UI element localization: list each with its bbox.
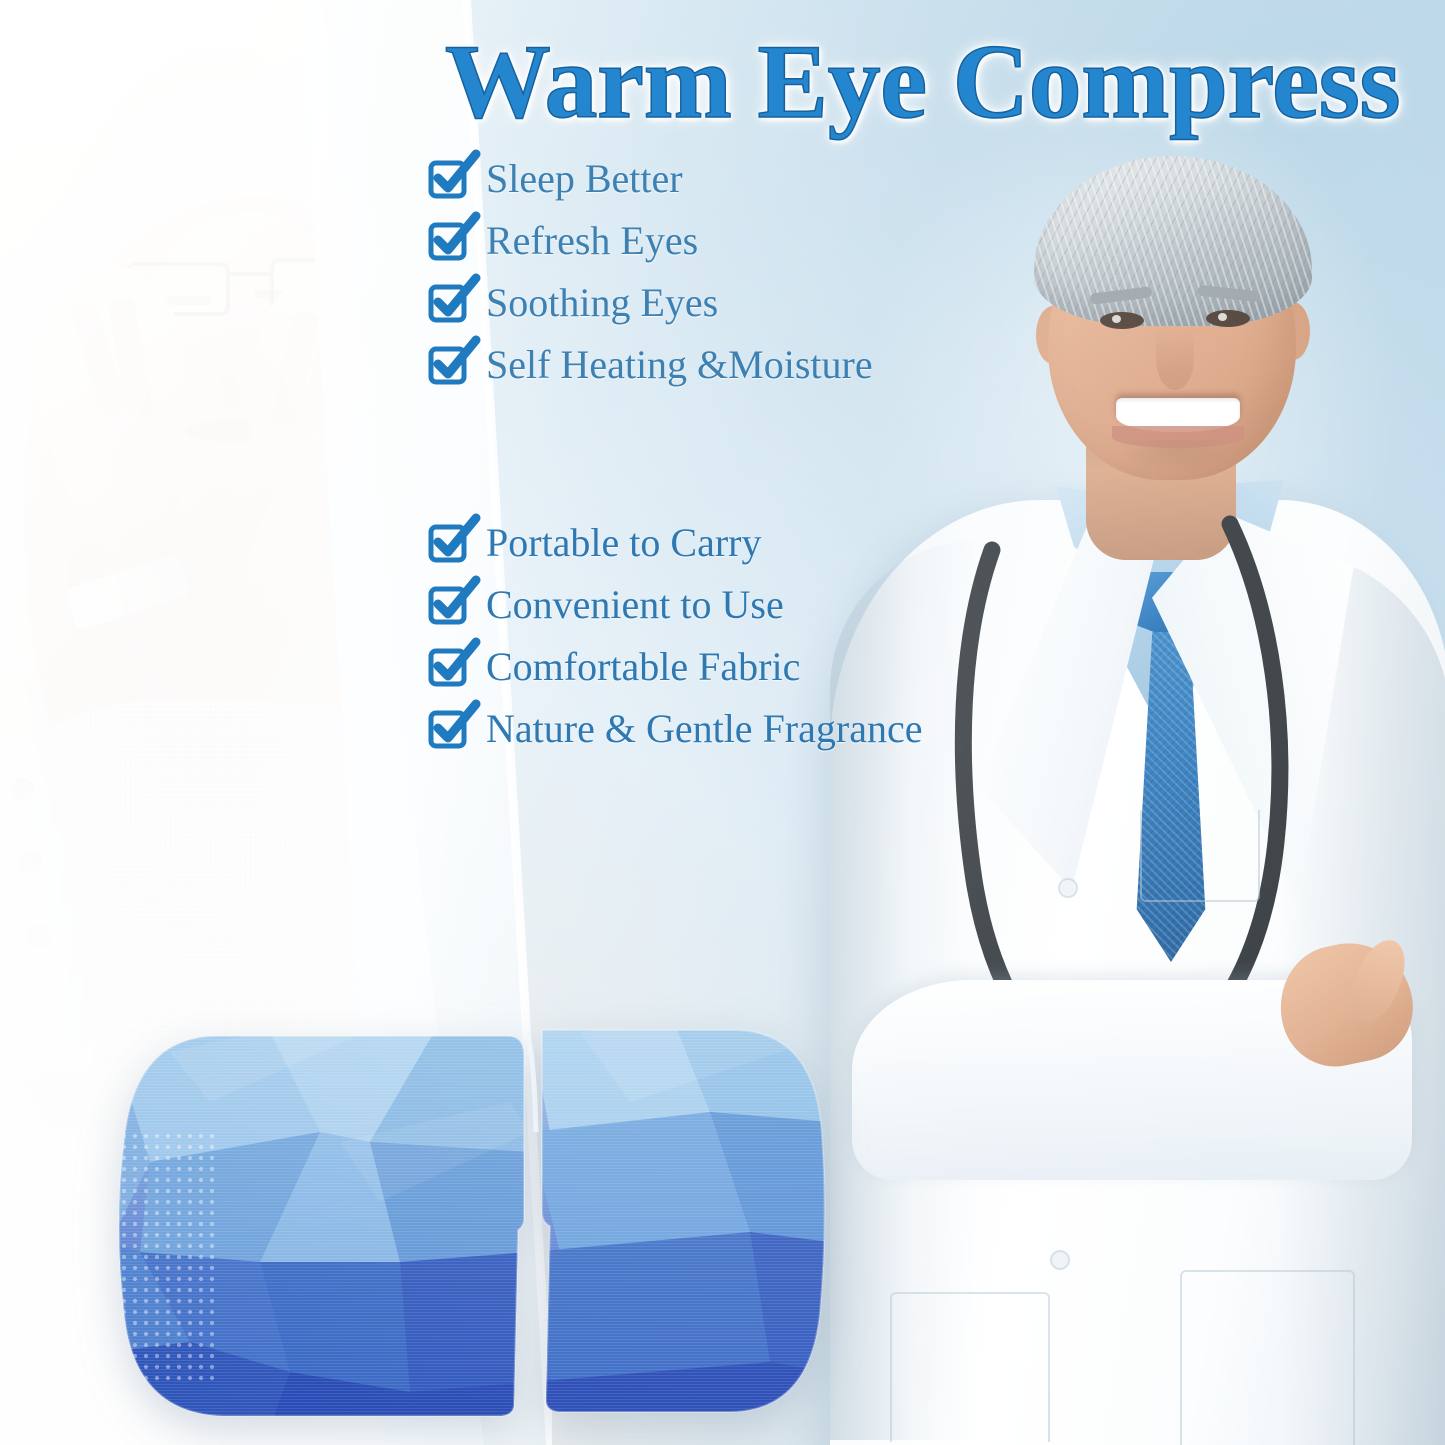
feature-item: Comfortable Fabric [432,636,1072,698]
feature-item: Refresh Eyes [432,210,1072,272]
checkbox-checked-icon [432,711,468,747]
feature-group-benefits: Sleep Better Refresh Eyes [432,148,1072,396]
feature-label: Comfortable Fabric [486,647,800,687]
checkbox-checked-icon [432,223,468,259]
checkbox-checked-icon [432,161,468,197]
feature-item: Nature & Gentle Fragrance [432,698,1072,760]
checkbox-checked-icon [432,649,468,685]
feature-item: Portable to Carry [432,512,1072,574]
checkbox-checked-icon [432,347,468,383]
feature-label: Convenient to Use [486,585,784,625]
feature-item: Soothing Eyes [432,272,1072,334]
feature-item: Convenient to Use [432,574,1072,636]
feature-group-usability: Portable to Carry Convenient to Use [432,512,1072,760]
feature-label: Soothing Eyes [486,283,718,323]
checkbox-checked-icon [432,285,468,321]
page-title: Warm Eye Compress [400,28,1445,136]
feature-label: Sleep Better [486,159,683,199]
feature-label: Refresh Eyes [486,221,698,261]
product-feature-poster: Warm Eye Compress Sleep Better [0,0,1445,1445]
feature-item: Self Heating &Moisture [432,334,1072,396]
feature-label: Portable to Carry [486,523,762,563]
checkbox-checked-icon [432,587,468,623]
feature-label: Self Heating &Moisture [486,345,873,385]
feature-list: Sleep Better Refresh Eyes [432,148,1072,760]
feature-item: Sleep Better [432,148,1072,210]
checkbox-checked-icon [432,525,468,561]
feature-label: Nature & Gentle Fragrance [486,709,922,749]
